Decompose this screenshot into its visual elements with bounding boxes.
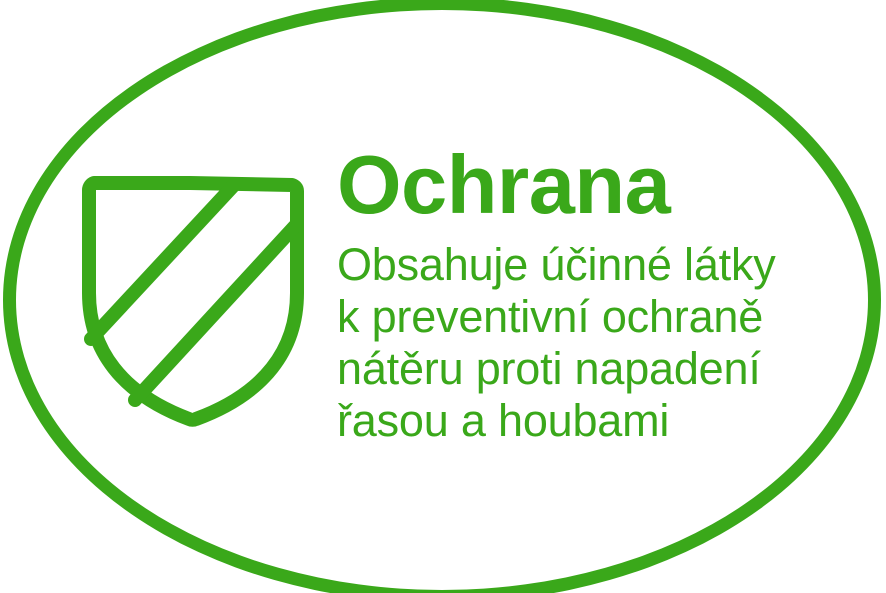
shield-icon	[78, 172, 308, 428]
description-line: řasou a houbami	[337, 395, 807, 447]
description-line: k preventivní ochraně	[337, 291, 807, 343]
description-line: Obsahuje účinné látky	[337, 239, 807, 291]
badge-description: Obsahuje účinné látky k preventivní ochr…	[337, 229, 807, 447]
badge-text-block: Ochrana Obsahuje účinné látky k preventi…	[337, 141, 807, 447]
protection-badge: Ochrana Obsahuje účinné látky k preventi…	[0, 0, 886, 593]
page-title: Ochrana	[337, 141, 807, 229]
description-line: nátěru proti napadení	[337, 343, 807, 395]
